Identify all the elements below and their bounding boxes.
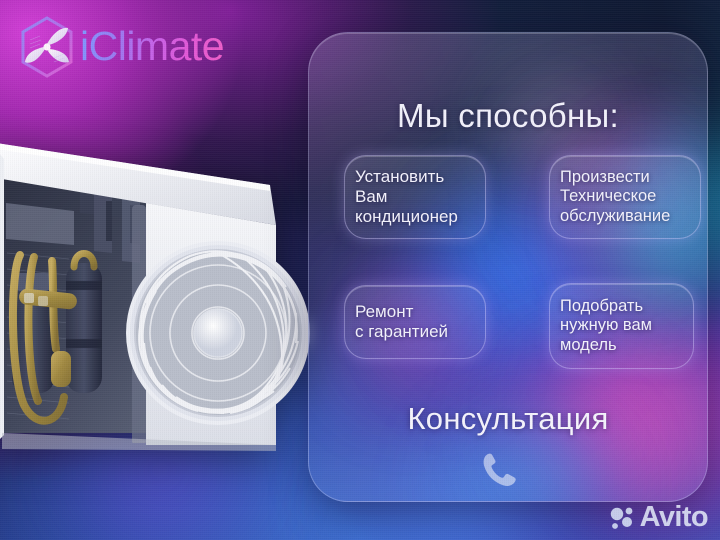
air-conditioner-outdoor-unit-cutaway	[0, 133, 312, 458]
service-chip-maintenance[interactable]: Произвести Техническое обслуживание	[549, 155, 701, 239]
service-chip-repair-label: Ремонт с гарантией	[355, 302, 448, 342]
service-chip-selection[interactable]: Подобрать нужную вам модель	[549, 283, 694, 369]
avito-wordmark: Avito	[640, 503, 708, 532]
page-title: Мы способны:	[309, 97, 707, 135]
service-chip-repair[interactable]: Ремонт с гарантией	[344, 285, 486, 359]
avito-watermark: Avito	[609, 503, 708, 532]
brand-logo[interactable]: iClimate	[16, 14, 224, 82]
promo-banner: iClimate	[0, 0, 720, 540]
brand-name: iClimate	[80, 26, 224, 71]
hexagon-fan-blade-icon	[16, 14, 78, 82]
avito-dots-icon	[609, 505, 635, 531]
service-chip-install-label: Установить Вам кондиционер	[355, 167, 458, 227]
service-chip-install[interactable]: Установить Вам кондиционер	[344, 155, 486, 239]
consultation-cta[interactable]: Консультация	[309, 401, 707, 437]
service-chip-maintenance-label: Произвести Техническое обслуживание	[560, 168, 670, 226]
service-chip-selection-label: Подобрать нужную вам модель	[560, 297, 652, 355]
phone-handset-icon[interactable]	[477, 448, 521, 492]
services-glass-card: Мы способны: Установить Вам кондиционер …	[308, 32, 708, 502]
